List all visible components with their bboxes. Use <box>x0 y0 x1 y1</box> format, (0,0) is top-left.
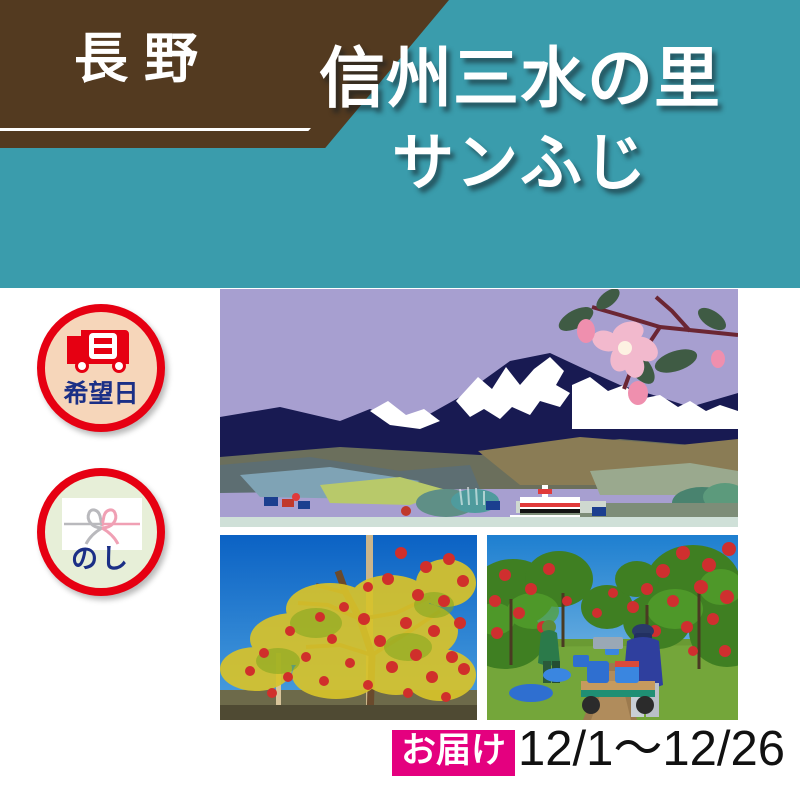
mountain-apple-blossom-illustration <box>220 289 738 527</box>
header: 長野 信州三水の里 サンふじ <box>0 0 800 288</box>
product-banner: 長野 信州三水の里 サンふじ 希望日 の <box>0 0 800 800</box>
delivery-truck-icon <box>65 326 141 376</box>
badge-delivery-date-label: 希望日 <box>45 374 157 410</box>
badge-noshi: のし <box>37 468 165 596</box>
apple-orchard-tree-photo <box>220 535 477 720</box>
title-line-2: サンふじ <box>250 130 790 198</box>
badge-noshi-label: のし <box>45 537 157 576</box>
prefecture-label: 長野 <box>34 32 254 86</box>
delivery-period: 12/1～12/26 <box>518 724 785 775</box>
apple-harvest-workers-photo <box>487 535 738 720</box>
page-title: 信州三水の里 サンふじ <box>250 42 790 198</box>
title-line-1: 信州三水の里 <box>250 42 790 116</box>
badge-delivery-date: 希望日 <box>37 304 165 432</box>
delivery-label: お届け <box>392 730 515 776</box>
